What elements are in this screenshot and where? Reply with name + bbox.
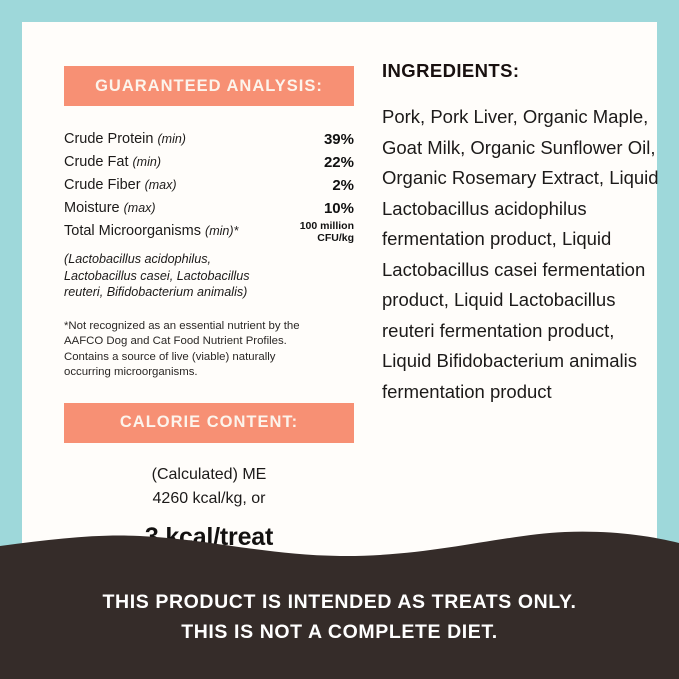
calorie-line-1: (Calculated) ME (64, 463, 354, 487)
nutrient-name-cell: Crude Fat (min) (64, 151, 285, 174)
nutrient-value-line2: CFU/kg (285, 232, 354, 244)
nutrient-value: 2% (285, 174, 354, 197)
right-column: INGREDIENTS: Pork, Pork Liver, Organic M… (382, 60, 667, 407)
nutrient-name-cell: Total Microorganisms (min)* (64, 220, 285, 244)
banner-line-2: THIS IS NOT A COMPLETE DIET. (0, 617, 679, 647)
guaranteed-analysis-heading: GUARANTEED ANALYSIS: (95, 77, 323, 96)
nutrient-label: Total Microorganisms (64, 223, 201, 239)
nutrient-label: Crude Fiber (64, 177, 141, 193)
nutrient-value: 22% (285, 151, 354, 174)
ingredients-heading: INGREDIENTS: (382, 60, 667, 82)
ingredients-list-text: Pork, Pork Liver, Organic Maple, Goat Mi… (382, 102, 667, 407)
nutrient-label: Crude Protein (64, 131, 153, 147)
left-column: GUARANTEED ANALYSIS: Crude Protein (min)… (64, 66, 354, 552)
microorganism-cultures-text: (Lactobacillus acidophilus, Lactobacillu… (64, 251, 279, 301)
nutrient-qualifier: (min) (158, 132, 186, 146)
banner-text-block: THIS PRODUCT IS INTENDED AS TREATS ONLY.… (0, 587, 679, 647)
nutrient-qualifier: (max) (124, 201, 156, 215)
nutrient-qualifier: (min) (133, 155, 161, 169)
bottom-disclaimer-banner: THIS PRODUCT IS INTENDED AS TREATS ONLY.… (0, 519, 679, 679)
aafco-footnote: *Not recognized as an essential nutrient… (64, 319, 304, 381)
nutrient-label: Moisture (64, 200, 120, 216)
table-row: Total Microorganisms (min)* 100 million … (64, 220, 354, 244)
table-row: Moisture (max) 10% (64, 197, 354, 220)
nutrient-name-cell: Crude Protein (min) (64, 128, 285, 151)
table-row: Crude Fat (min) 22% (64, 151, 354, 174)
guaranteed-analysis-header-bar: GUARANTEED ANALYSIS: (64, 66, 354, 106)
table-row: Crude Protein (min) 39% (64, 128, 354, 151)
banner-line-1: THIS PRODUCT IS INTENDED AS TREATS ONLY. (0, 587, 679, 617)
nutrient-name-cell: Crude Fiber (max) (64, 174, 285, 197)
nutrition-label-panel: GUARANTEED ANALYSIS: Crude Protein (min)… (0, 0, 679, 679)
table-row: Crude Fiber (max) 2% (64, 174, 354, 197)
nutrient-qualifier: (max) (145, 178, 177, 192)
guaranteed-analysis-table: Crude Protein (min) 39% Crude Fat (min) … (64, 128, 354, 244)
nutrient-value: 39% (285, 128, 354, 151)
calorie-line-2: 4260 kcal/kg, or (64, 487, 354, 511)
calorie-content-heading: CALORIE CONTENT: (120, 413, 298, 432)
nutrient-name-cell: Moisture (max) (64, 197, 285, 220)
calorie-content-header-bar: CALORIE CONTENT: (64, 403, 354, 443)
nutrient-value: 100 million CFU/kg (285, 220, 354, 244)
nutrient-value-line1: 100 million (285, 220, 354, 232)
nutrient-qualifier: (min)* (205, 224, 238, 238)
nutrient-label: Crude Fat (64, 154, 128, 170)
nutrient-value: 10% (285, 197, 354, 220)
